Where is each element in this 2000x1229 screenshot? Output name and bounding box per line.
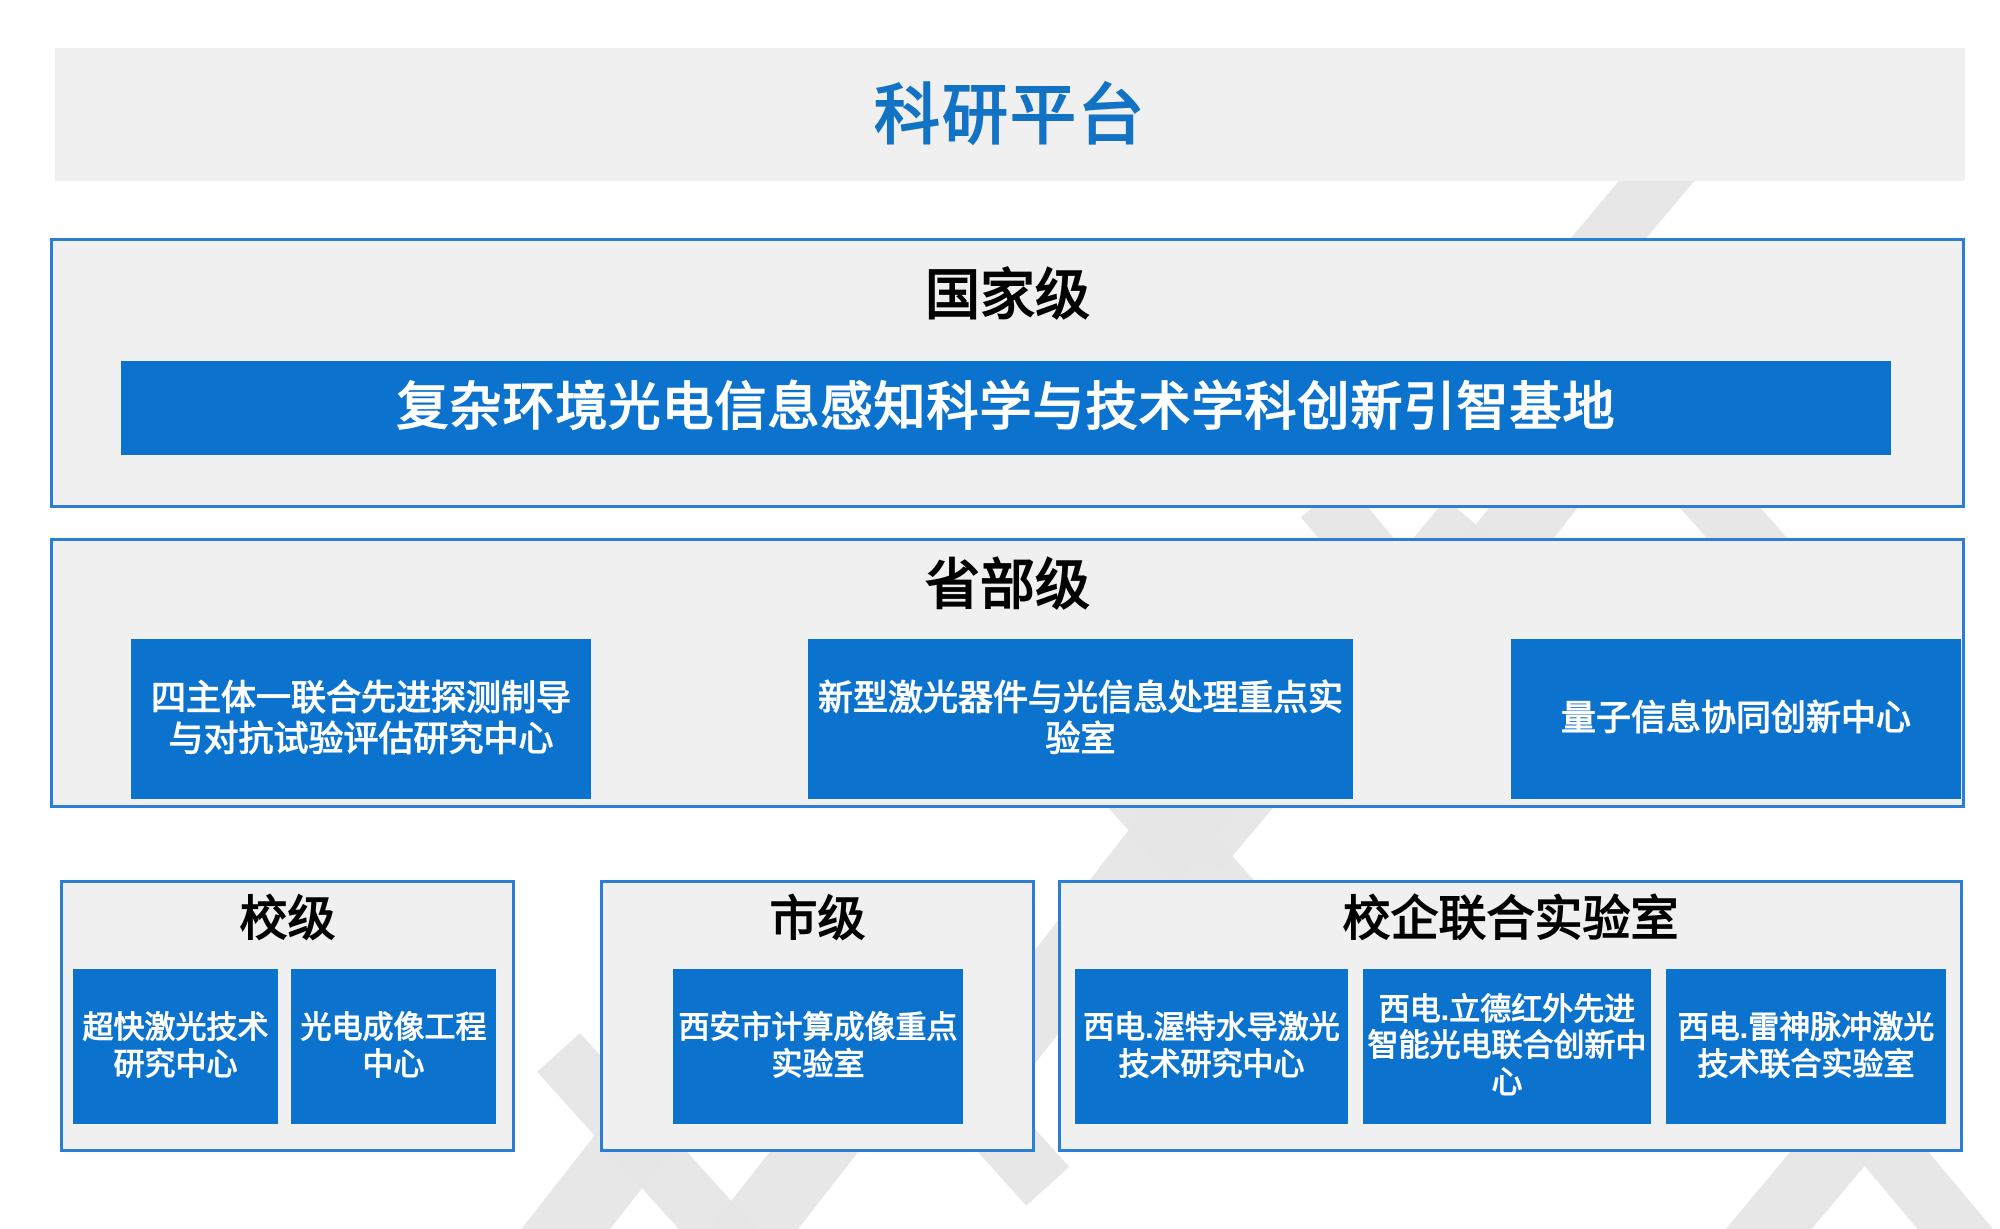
platform-card[interactable]: 西电.渥特水导激光技术研究中心 bbox=[1075, 969, 1348, 1124]
research-platform-slide: 科研平台 国家级 复杂环境光电信息感知科学与技术学科创新引智基地 省部级 四主体… bbox=[0, 0, 2000, 1229]
level-heading-city: 市级 bbox=[603, 895, 1032, 945]
level-heading-national: 国家级 bbox=[53, 267, 1962, 325]
level-panel-school: 校级 超快激光技术研究中心 光电成像工程中心 bbox=[60, 880, 515, 1152]
page-title: 科研平台 bbox=[874, 82, 1146, 148]
platform-card[interactable]: 量子信息协同创新中心 bbox=[1511, 639, 1961, 799]
platform-card[interactable]: 西安市计算成像重点实验室 bbox=[673, 969, 963, 1124]
school-platform-row: 超快激光技术研究中心 光电成像工程中心 bbox=[63, 969, 512, 1124]
level-panel-provincial: 省部级 四主体一联合先进探测制导与对抗试验评估研究中心 新型激光器件与光信息处理… bbox=[50, 538, 1965, 808]
page-title-band: 科研平台 bbox=[55, 48, 1965, 181]
platform-card[interactable]: 光电成像工程中心 bbox=[291, 969, 496, 1124]
level-panel-national: 国家级 复杂环境光电信息感知科学与技术学科创新引智基地 bbox=[50, 238, 1965, 508]
platform-card[interactable]: 超快激光技术研究中心 bbox=[73, 969, 278, 1124]
provincial-platform-row: 四主体一联合先进探测制导与对抗试验评估研究中心 新型激光器件与光信息处理重点实验… bbox=[53, 639, 1962, 799]
platform-card[interactable]: 新型激光器件与光信息处理重点实验室 bbox=[808, 639, 1353, 799]
city-platform-row: 西安市计算成像重点实验室 bbox=[603, 969, 1032, 1124]
level-panel-enterprise: 校企联合实验室 西电.渥特水导激光技术研究中心 西电.立德红外先进智能光电联合创… bbox=[1058, 880, 1963, 1152]
platform-card[interactable]: 西电.雷神脉冲激光技术联合实验室 bbox=[1666, 969, 1946, 1124]
platform-card[interactable]: 四主体一联合先进探测制导与对抗试验评估研究中心 bbox=[131, 639, 591, 799]
level-panel-city: 市级 西安市计算成像重点实验室 bbox=[600, 880, 1035, 1152]
level-heading-enterprise: 校企联合实验室 bbox=[1061, 895, 1960, 945]
enterprise-platform-row: 西电.渥特水导激光技术研究中心 西电.立德红外先进智能光电联合创新中心 西电.雷… bbox=[1061, 969, 1960, 1124]
national-platform-banner[interactable]: 复杂环境光电信息感知科学与技术学科创新引智基地 bbox=[121, 361, 1891, 455]
level-heading-school: 校级 bbox=[63, 895, 512, 945]
national-platform-label: 复杂环境光电信息感知科学与技术学科创新引智基地 bbox=[396, 382, 1615, 434]
level-heading-provincial: 省部级 bbox=[53, 557, 1962, 615]
platform-card[interactable]: 西电.立德红外先进智能光电联合创新中心 bbox=[1363, 969, 1651, 1124]
